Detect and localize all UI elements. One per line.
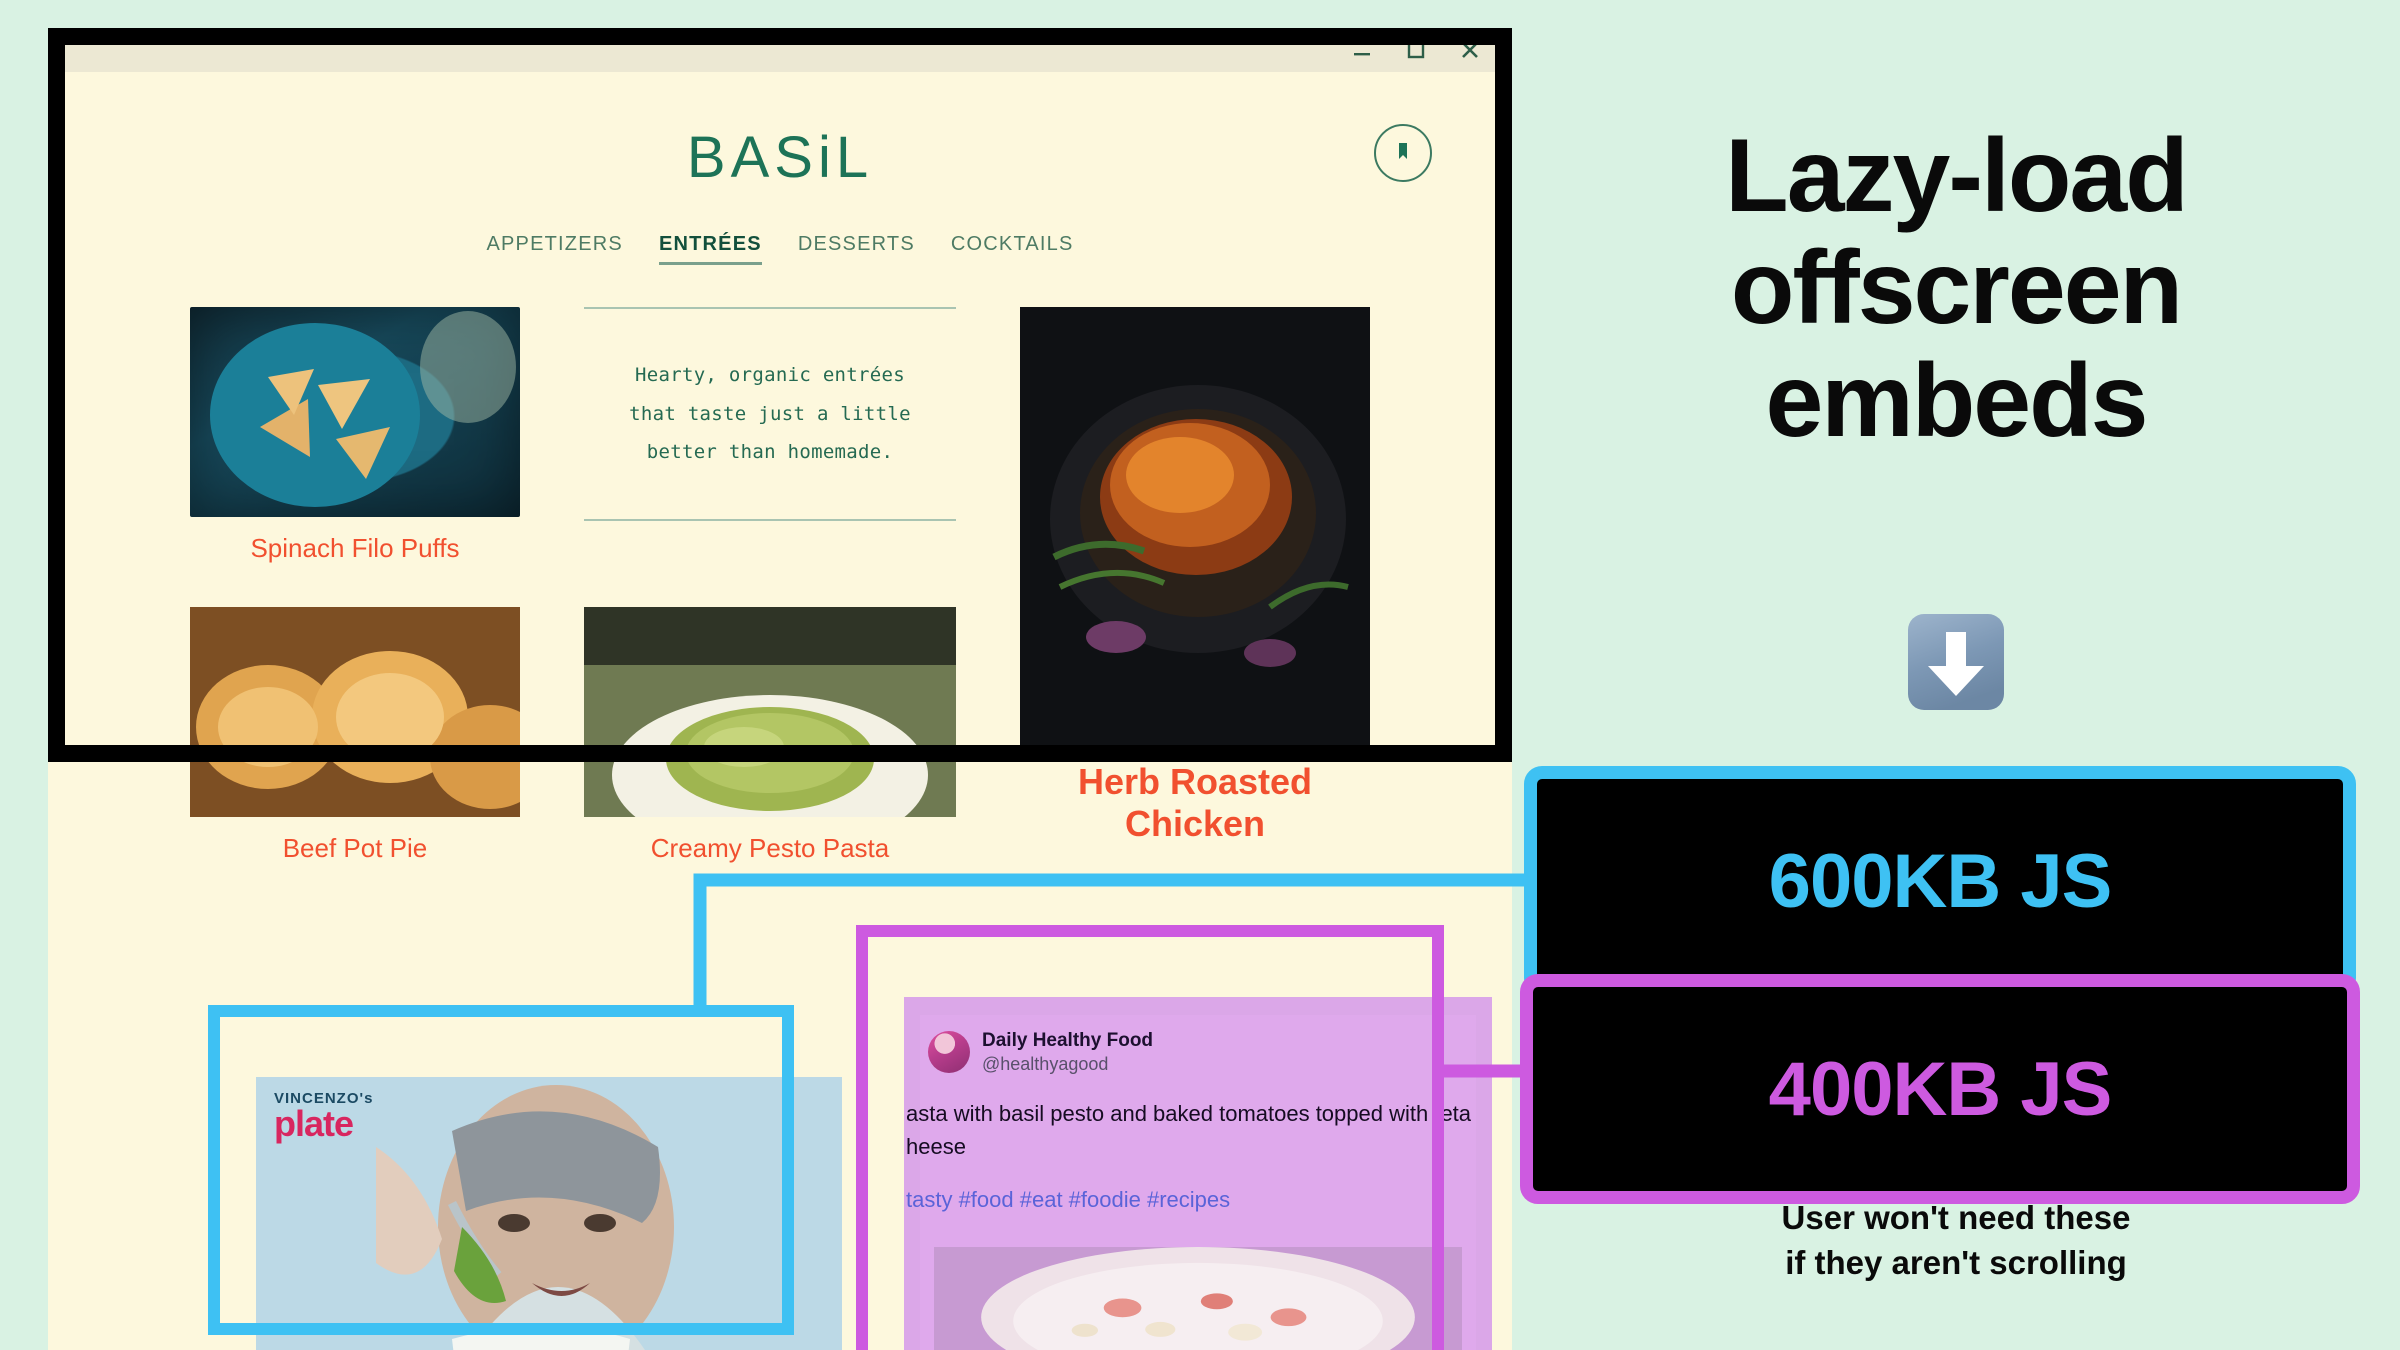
page-viewport[interactable]: BASiL APPETIZERS ENTRÉES DESSERTS COCKTA… <box>48 72 1512 1350</box>
close-icon[interactable] <box>1458 38 1482 62</box>
tweet-text: asta with basil pesto and baked tomatoes… <box>906 1075 1476 1163</box>
callout-600kb: 600KB JS <box>1524 766 2356 996</box>
nav-item-cocktails[interactable]: COCKTAILS <box>951 233 1074 265</box>
dish-image-herb-roasted-chicken[interactable] <box>1020 307 1370 745</box>
callout-600kb-label: 600KB JS <box>1769 838 2112 925</box>
bookmark-icon <box>1392 140 1414 167</box>
slide-canvas: BASiL APPETIZERS ENTRÉES DESSERTS COCKTA… <box>0 0 2400 1350</box>
nav-item-entrees[interactable]: ENTRÉES <box>659 233 762 265</box>
tweet-handle: @healthyagood <box>982 1053 1153 1076</box>
site-nav: APPETIZERS ENTRÉES DESSERTS COCKTAILS <box>48 233 1512 265</box>
maximize-icon[interactable] <box>1404 38 1428 62</box>
youtube-embed[interactable]: VINCENZO's plate plate <box>256 1077 842 1350</box>
dish-label-herb-roasted-chicken: Herb Roasted Chicken <box>1020 761 1370 845</box>
tweet-card: Daily Healthy Food @healthyagood asta wi… <box>920 1015 1476 1350</box>
tweet-embed[interactable]: Daily Healthy Food @healthyagood asta wi… <box>904 997 1492 1350</box>
minimize-icon[interactable] <box>1350 38 1374 62</box>
headline: Lazy-load offscreen embeds <box>1512 120 2400 457</box>
browser-window: BASiL APPETIZERS ENTRÉES DESSERTS COCKTA… <box>48 28 1512 1350</box>
avatar <box>928 1031 970 1073</box>
tweet-photo[interactable] <box>934 1247 1462 1350</box>
nav-item-desserts[interactable]: DESSERTS <box>798 233 915 265</box>
tagline-text: Hearty, organic entrées that taste just … <box>629 356 911 473</box>
window-titlebar <box>48 28 1512 72</box>
bookmark-button[interactable] <box>1374 124 1432 182</box>
youtube-channel-name-main: plate <box>274 1106 373 1142</box>
footnote: User won't need these if they aren't scr… <box>1512 1196 2400 1285</box>
dish-label-creamy-pesto-pasta: Creamy Pesto Pasta <box>584 833 956 864</box>
callout-400kb: 400KB JS <box>1520 974 2360 1204</box>
youtube-channel-logo: VINCENZO's plate <box>274 1091 373 1142</box>
dish-image-spinach-filo-puffs[interactable] <box>190 307 520 517</box>
site-logo[interactable]: BASiL <box>48 124 1512 191</box>
callout-400kb-label: 400KB JS <box>1769 1046 2112 1133</box>
dish-label-beef-pot-pie: Beef Pot Pie <box>190 833 520 864</box>
tagline-box: Hearty, organic entrées that taste just … <box>584 307 956 521</box>
right-annotation-panel: Lazy-load offscreen embeds 600KB JS 400K… <box>1512 0 2400 1350</box>
tweet-header: Daily Healthy Food @healthyagood <box>920 1015 1476 1075</box>
dish-label-spinach-filo-puffs: Spinach Filo Puffs <box>190 533 520 564</box>
dish-image-creamy-pesto-pasta[interactable] <box>584 607 956 817</box>
down-arrow-icon <box>1906 612 2006 712</box>
dish-image-beef-pot-pie[interactable] <box>190 607 520 817</box>
tweet-display-name: Daily Healthy Food <box>982 1029 1153 1053</box>
nav-item-appetizers[interactable]: APPETIZERS <box>486 233 622 265</box>
tweet-hashtags[interactable]: tasty #food #eat #foodie #recipes <box>906 1163 1476 1213</box>
